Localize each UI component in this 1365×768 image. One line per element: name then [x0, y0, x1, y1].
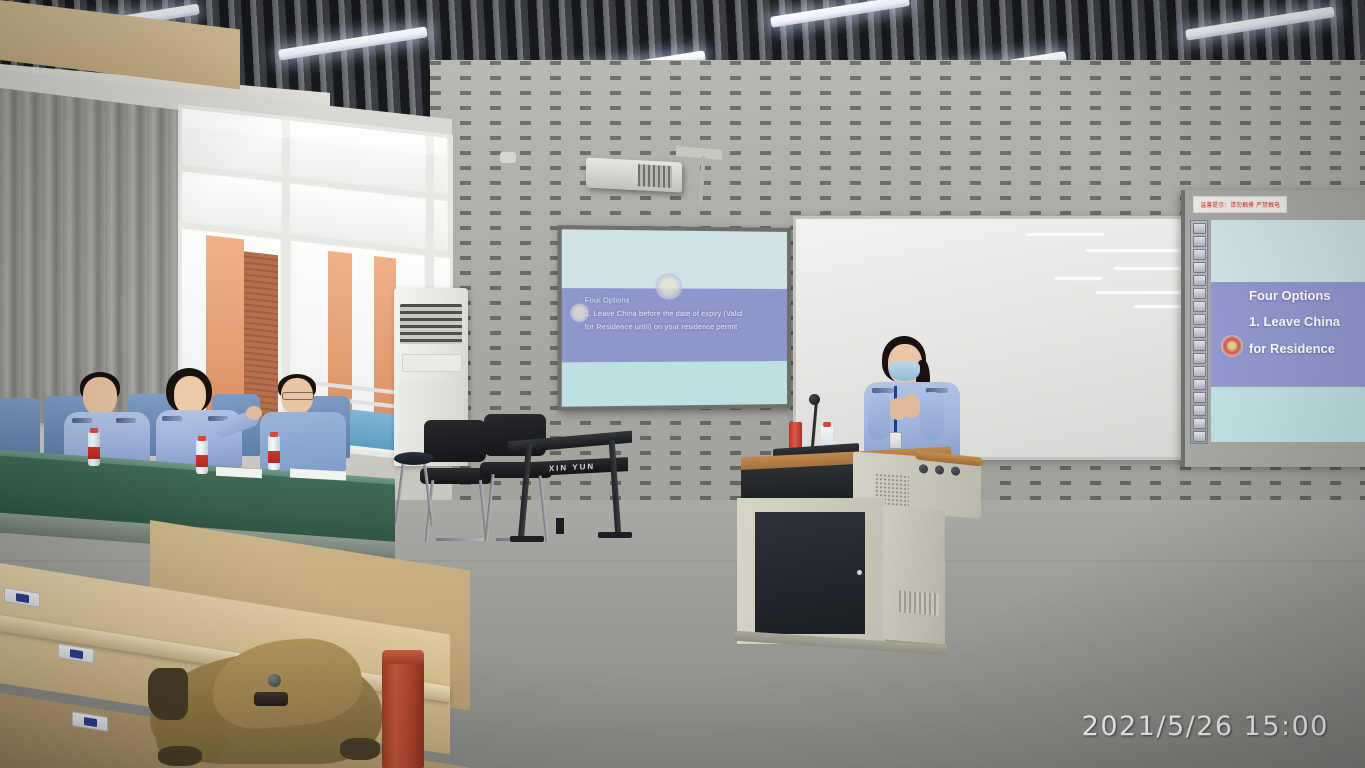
knob[interactable] [951, 466, 960, 476]
redo-tool-icon[interactable] [1193, 392, 1206, 403]
knob[interactable] [935, 465, 944, 475]
shape-tool-icon[interactable] [1193, 327, 1206, 338]
open-tool-icon[interactable] [1193, 236, 1206, 247]
head [174, 376, 206, 414]
epaulette-left [872, 388, 894, 393]
lectern-vent [899, 590, 939, 615]
pointing-hand [246, 406, 262, 420]
epaulette-left [72, 418, 92, 423]
select-tool-icon[interactable] [1193, 262, 1206, 273]
display-slide-line-1: 1. Leave China [1249, 313, 1340, 330]
ceiling-camera [500, 152, 516, 163]
arm-left [868, 394, 890, 440]
head [83, 377, 117, 415]
lectern-cabinet-door[interactable] [755, 512, 865, 634]
backpack-corner-patch [148, 668, 188, 720]
knob[interactable] [919, 464, 928, 474]
arm-right [920, 392, 944, 440]
keyboard-stand-brand-label: XIN YUN [549, 461, 595, 472]
interactive-display[interactable]: 温馨提示：请勿触摸 严禁触电 Four Options [1181, 190, 1365, 467]
whiteboard [793, 216, 1187, 460]
ceiling-projector [586, 157, 682, 192]
face-mask [889, 361, 920, 381]
lectern-lock-icon[interactable] [857, 570, 862, 575]
microphone-icon [809, 394, 820, 405]
slide-line-1: 1. Leave China before the date of expiry… [585, 309, 742, 320]
water-bottle [268, 436, 280, 470]
photo-scene: Four Options 1. Leave China before the d… [0, 0, 1365, 768]
backpack-strap [340, 738, 380, 760]
panel-person-civilian [268, 374, 348, 466]
display-slide-line-2: for Residence [1249, 340, 1335, 357]
page-tool-icon[interactable] [1193, 405, 1206, 416]
highlighter-tool-icon[interactable] [1193, 288, 1206, 299]
photo-timestamp: 2021/5/26 15:00 [1082, 711, 1329, 742]
print-tool-icon[interactable] [1193, 249, 1206, 260]
lectern-side-panel [883, 505, 945, 644]
stool-seat [394, 452, 434, 465]
exit-tool-icon[interactable] [1193, 431, 1206, 442]
slide-line-2: for Residence until) on your residence p… [585, 322, 737, 333]
backpack-buckle [254, 692, 288, 706]
line-tool-icon[interactable] [1193, 314, 1206, 325]
settings-tool-icon[interactable] [1193, 418, 1206, 429]
id-badge [889, 432, 902, 449]
epaulette-left [162, 416, 182, 421]
eyeglasses-icon [282, 392, 314, 400]
warning-banner-text: 温馨提示：请勿触摸 严禁触电 [1200, 200, 1280, 209]
backpack-button-icon [268, 674, 281, 687]
display-slide-title: Four Options [1249, 287, 1331, 304]
pen-tool-icon[interactable] [1193, 275, 1206, 286]
projected-slide: Four Options 1. Leave China before the d… [562, 229, 787, 406]
fill-tool-icon[interactable] [1193, 340, 1206, 351]
water-bottle [196, 440, 208, 474]
hand-right [902, 394, 921, 418]
image-tool-icon[interactable] [1193, 353, 1206, 364]
ac-control-panel[interactable] [402, 354, 462, 372]
thermos-cap [382, 650, 424, 664]
warning-banner: 温馨提示：请勿触摸 严禁触电 [1193, 196, 1287, 213]
backpack [150, 634, 388, 768]
displayed-slide: Four Options 1. Leave China for Residenc… [1211, 220, 1365, 442]
water-bottle [88, 432, 100, 466]
stool[interactable] [394, 452, 434, 528]
epaulette-right [116, 418, 136, 423]
eraser-tool-icon[interactable] [1193, 301, 1206, 312]
floor-power-box [556, 518, 564, 534]
projection-screen: Four Options 1. Leave China before the d… [557, 225, 791, 411]
text-tool-icon[interactable] [1193, 366, 1206, 377]
police-emblem-icon [656, 273, 683, 300]
slide-title: Four Options [585, 295, 630, 306]
backpack-strap [158, 746, 202, 766]
keyboard-stand: XIN YUN [516, 430, 628, 540]
red-thermos [382, 650, 424, 768]
undo-tool-icon[interactable] [1193, 379, 1206, 390]
save-tool-icon[interactable] [1193, 223, 1206, 234]
auditorium-seat [0, 398, 40, 458]
ac-grille [400, 304, 462, 344]
panel-person-officer-male [70, 372, 150, 467]
lectern [733, 452, 983, 652]
whiteboard-toolbar[interactable] [1190, 220, 1208, 444]
